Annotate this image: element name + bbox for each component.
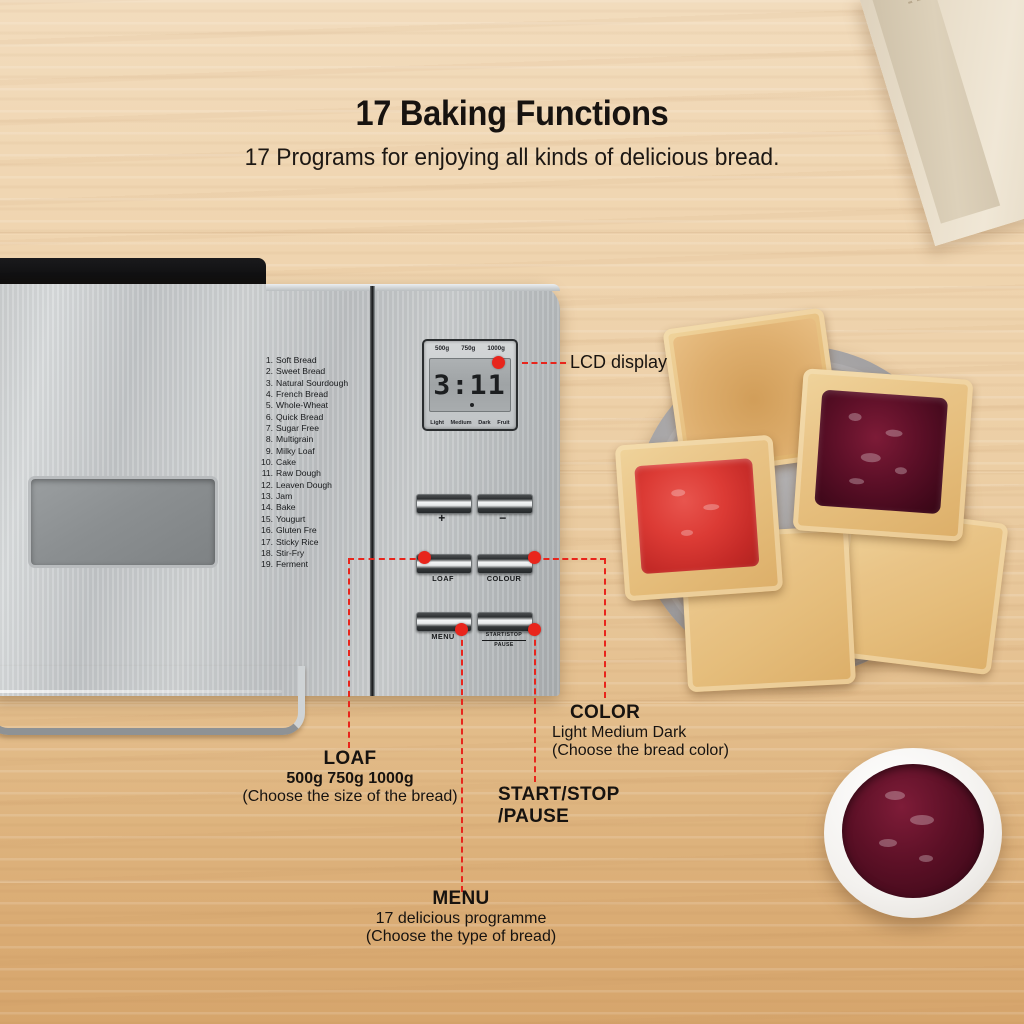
program-name: Quick Bread: [276, 412, 323, 422]
wood-plank-seam: [0, 232, 1024, 235]
machine-handle: [0, 666, 305, 735]
program-list-item: 12.Leaven Dough: [258, 480, 378, 491]
infographic-canvas: 17 Baking Functions 17 Programs for enjo…: [0, 0, 1024, 1024]
lcd-display: 500g 750g 1000g 3:11 Light Medium Dark F…: [422, 339, 518, 431]
label-divider: [482, 640, 526, 641]
menu-callout-note: (Choose the type of bread): [331, 928, 591, 946]
start-stop-pause-button[interactable]: [477, 612, 533, 632]
lcd-weight-750g: 750g: [461, 345, 475, 352]
program-name: Leaven Dough: [276, 480, 332, 490]
machine-lid-top-strip: [0, 258, 266, 286]
program-number: 18.: [258, 548, 273, 559]
start-stop-text: START/STOP: [486, 632, 522, 638]
program-list-item: 2.Sweet Bread: [258, 366, 378, 377]
program-number: 3.: [258, 378, 273, 389]
program-number: 7.: [258, 423, 273, 434]
program-list-item: 8.Multigrain: [258, 434, 378, 445]
program-list-item: 15.Yougurt: [258, 514, 378, 525]
colour-callout-line-h: [534, 558, 606, 560]
minus-button-label: −: [464, 511, 542, 525]
toast-strawberry-jam: [615, 435, 783, 602]
toast-berry-jam: [793, 368, 974, 541]
color-callout: COLOR Light Medium Dark (Choose the brea…: [552, 702, 792, 760]
start-callout-line-v: [534, 630, 536, 782]
lcd-doneness-indicator: [470, 403, 474, 407]
program-name: Stir-Fry: [276, 548, 304, 558]
colour-button[interactable]: [477, 554, 533, 574]
program-name: Gluten Fre: [276, 525, 317, 535]
program-list-item: 16.Gluten Fre: [258, 525, 378, 536]
program-list-item: 13.Jam: [258, 491, 378, 502]
program-list: 1.Soft Bread2.Sweet Bread3.Natural Sourd…: [258, 355, 378, 571]
loaf-callout-values: 500g 750g 1000g: [200, 770, 500, 788]
program-name: Sticky Rice: [276, 537, 319, 547]
pause-text: PAUSE: [494, 642, 514, 648]
color-callout-title: COLOR: [552, 702, 792, 724]
program-name: Jam: [276, 491, 292, 501]
program-number: 10.: [258, 457, 273, 468]
program-list-item: 1.Soft Bread: [258, 355, 378, 366]
colour-button-label: COLOUR: [465, 574, 543, 583]
program-name: Raw Dough: [276, 468, 321, 478]
program-list-item: 19.Ferment: [258, 559, 378, 570]
program-list-item: 7.Sugar Free: [258, 423, 378, 434]
program-list-item: 11.Raw Dough: [258, 468, 378, 479]
page-title: 17 Baking Functions: [36, 94, 988, 134]
lcd-doneness-medium: Medium: [451, 420, 472, 426]
machine-top-edge: [266, 284, 560, 291]
loaf-callout-line-v: [348, 558, 350, 748]
loaf-callout-line-h: [348, 558, 426, 560]
program-number: 8.: [258, 434, 273, 445]
program-number: 17.: [258, 537, 273, 548]
program-name: Natural Sourdough: [276, 378, 348, 388]
lcd-weight-500g: 500g: [435, 345, 449, 352]
start-callout-title-line2: /PAUSE: [498, 806, 738, 828]
program-list-item: 10.Cake: [258, 457, 378, 468]
lcd-doneness-light: Light: [430, 420, 444, 426]
program-name: Sugar Free: [276, 423, 319, 433]
program-name: Multigrain: [276, 434, 313, 444]
machine-handle-highlight: [0, 690, 282, 693]
lcd-callout-label: LCD display: [570, 352, 667, 373]
colour-callout-line-v: [604, 558, 606, 698]
program-name: Ferment: [276, 559, 308, 569]
loaf-callout-note: (Choose the size of the bread): [200, 788, 500, 806]
start-stop-callout: START/STOP /PAUSE: [498, 784, 738, 828]
menu-callout-values: 17 delicious programme: [331, 910, 591, 928]
lcd-doneness-fruit: Fruit: [497, 420, 509, 426]
loaf-callout-title: LOAF: [200, 748, 500, 770]
lcd-doneness-labels: Light Medium Dark Fruit: [424, 420, 516, 426]
program-list-item: 17.Sticky Rice: [258, 537, 378, 548]
program-number: 11.: [258, 468, 273, 479]
bowl-jam-content: [842, 764, 984, 898]
program-number: 15.: [258, 514, 273, 525]
program-name: Cake: [276, 457, 296, 467]
program-number: 9.: [258, 446, 273, 457]
program-number: 13.: [258, 491, 273, 502]
menu-callout: MENU 17 delicious programme (Choose the …: [331, 888, 591, 946]
lcd-weight-labels: 500g 750g 1000g: [424, 345, 516, 352]
viewing-window: [28, 476, 218, 568]
lcd-callout-dot: [492, 356, 505, 369]
loaf-callout: LOAF 500g 750g 1000g (Choose the size of…: [200, 748, 500, 806]
program-list-item: 3.Natural Sourdough: [258, 378, 378, 389]
program-name: Bake: [276, 502, 296, 512]
berry-jam-spread: [814, 390, 948, 515]
start-callout-title-line1: START/STOP: [498, 784, 738, 806]
strawberry-jam-spread: [634, 458, 759, 574]
program-name: French Bread: [276, 389, 328, 399]
program-number: 12.: [258, 480, 273, 491]
menu-callout-title: MENU: [331, 888, 591, 910]
program-list-item: 9.Milky Loaf: [258, 446, 378, 457]
program-list-item: 4.French Bread: [258, 389, 378, 400]
toast-photo: [612, 318, 1024, 706]
program-name: Soft Bread: [276, 355, 317, 365]
program-number: 16.: [258, 525, 273, 536]
program-list-item: 5.Whole-Wheat: [258, 400, 378, 411]
program-number: 4.: [258, 389, 273, 400]
program-list-item: 14.Bake: [258, 502, 378, 513]
program-list-item: 6.Quick Bread: [258, 412, 378, 423]
lcd-doneness-dark: Dark: [478, 420, 490, 426]
program-name: Yougurt: [276, 514, 305, 524]
lcd-time-value: 3:11: [434, 370, 506, 401]
program-number: 2.: [258, 366, 273, 377]
program-name: Sweet Bread: [276, 366, 325, 376]
page-subtitle: 17 Programs for enjoying all kinds of de…: [26, 144, 999, 172]
lcd-callout-line: [522, 362, 566, 364]
program-number: 5.: [258, 400, 273, 411]
color-callout-values: Light Medium Dark: [552, 724, 792, 742]
program-name: Whole-Wheat: [276, 400, 328, 410]
jam-bowl: [824, 748, 1002, 918]
program-name: Milky Loaf: [276, 446, 315, 456]
lcd-weight-1000g: 1000g: [487, 345, 505, 352]
program-number: 1.: [258, 355, 273, 366]
program-number: 19.: [258, 559, 273, 570]
program-number: 6.: [258, 412, 273, 423]
color-callout-note: (Choose the bread color): [552, 742, 792, 760]
program-number: 14.: [258, 502, 273, 513]
